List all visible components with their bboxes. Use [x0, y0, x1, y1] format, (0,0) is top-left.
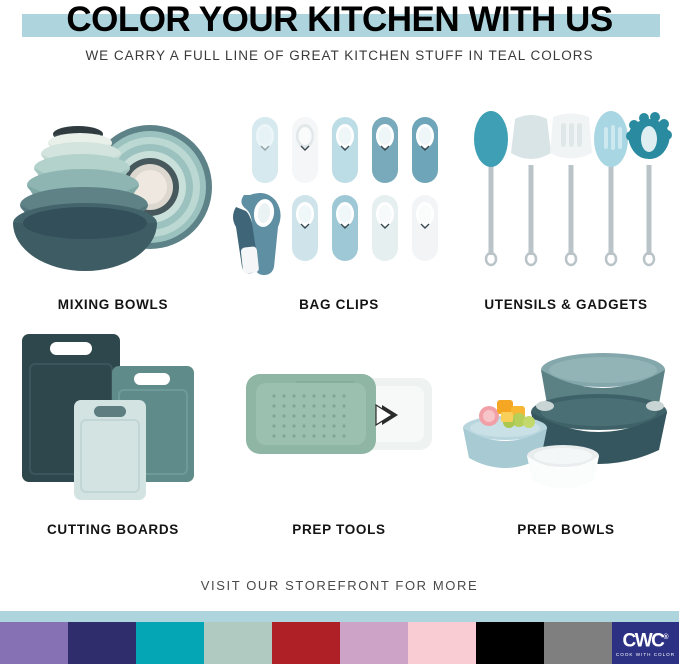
- product-cell-cutting-boards[interactable]: CUTTING BOARDS: [0, 320, 226, 545]
- registered-mark-icon: ®: [663, 634, 668, 641]
- product-label: CUTTING BOARDS: [0, 522, 226, 537]
- product-label: BAG CLIPS: [226, 297, 452, 312]
- product-cell-prep-tools[interactable]: PREP TOOLS: [226, 320, 452, 545]
- product-grid: MIXING BOWLS: [0, 95, 679, 545]
- product-row: MIXING BOWLS: [0, 95, 679, 320]
- product-label: MIXING BOWLS: [0, 297, 226, 312]
- page-subtitle: WE CARRY A FULL LINE OF GREAT KITCHEN ST…: [0, 48, 679, 63]
- product-label: PREP BOWLS: [453, 522, 679, 537]
- utensils-gadgets-illustration: [453, 95, 679, 280]
- color-swatch-purple: [0, 622, 68, 664]
- product-label: PREP TOOLS: [226, 522, 452, 537]
- cutting-boards-illustration: [0, 320, 226, 505]
- mixing-bowls-illustration: [0, 95, 226, 280]
- color-swatch-blush: [408, 622, 476, 664]
- color-swatch-orchid: [340, 622, 408, 664]
- product-label: UTENSILS & GADGETS: [453, 297, 679, 312]
- footer-divider-band: [0, 611, 679, 622]
- product-cell-mixing-bowls[interactable]: MIXING BOWLS: [0, 95, 226, 320]
- logo-tagline: COOK WITH COLOR: [616, 651, 675, 658]
- product-cell-prep-bowls[interactable]: PREP BOWLS: [453, 320, 679, 545]
- color-swatch-navy: [68, 622, 136, 664]
- bag-clips-illustration: [226, 95, 452, 280]
- color-swatch-gray: [544, 622, 612, 664]
- product-cell-utensils-gadgets[interactable]: UTENSILS & GADGETS: [453, 95, 679, 320]
- color-swatch-red: [272, 622, 340, 664]
- color-swatch-sage: [204, 622, 272, 664]
- storefront-note: VISIT OUR STOREFRONT FOR MORE: [0, 578, 679, 593]
- color-swatch-strip: CWC® COOK WITH COLOR: [0, 622, 679, 664]
- logo-wordmark: CWC®: [622, 628, 668, 650]
- product-cell-bag-clips[interactable]: BAG CLIPS: [226, 95, 452, 320]
- product-row: CUTTING BOARDS: [0, 320, 679, 545]
- header: COLOR YOUR KITCHEN WITH US WE CARRY A FU…: [0, 0, 679, 80]
- logo-letters: CWC: [622, 630, 663, 651]
- prep-bowls-illustration: [453, 320, 679, 505]
- color-swatch-teal: [136, 622, 204, 664]
- page-title: COLOR YOUR KITCHEN WITH US: [0, 0, 679, 40]
- color-swatch-black: [476, 622, 544, 664]
- brand-logo[interactable]: CWC® COOK WITH COLOR: [612, 622, 679, 664]
- prep-tools-illustration: [226, 320, 452, 505]
